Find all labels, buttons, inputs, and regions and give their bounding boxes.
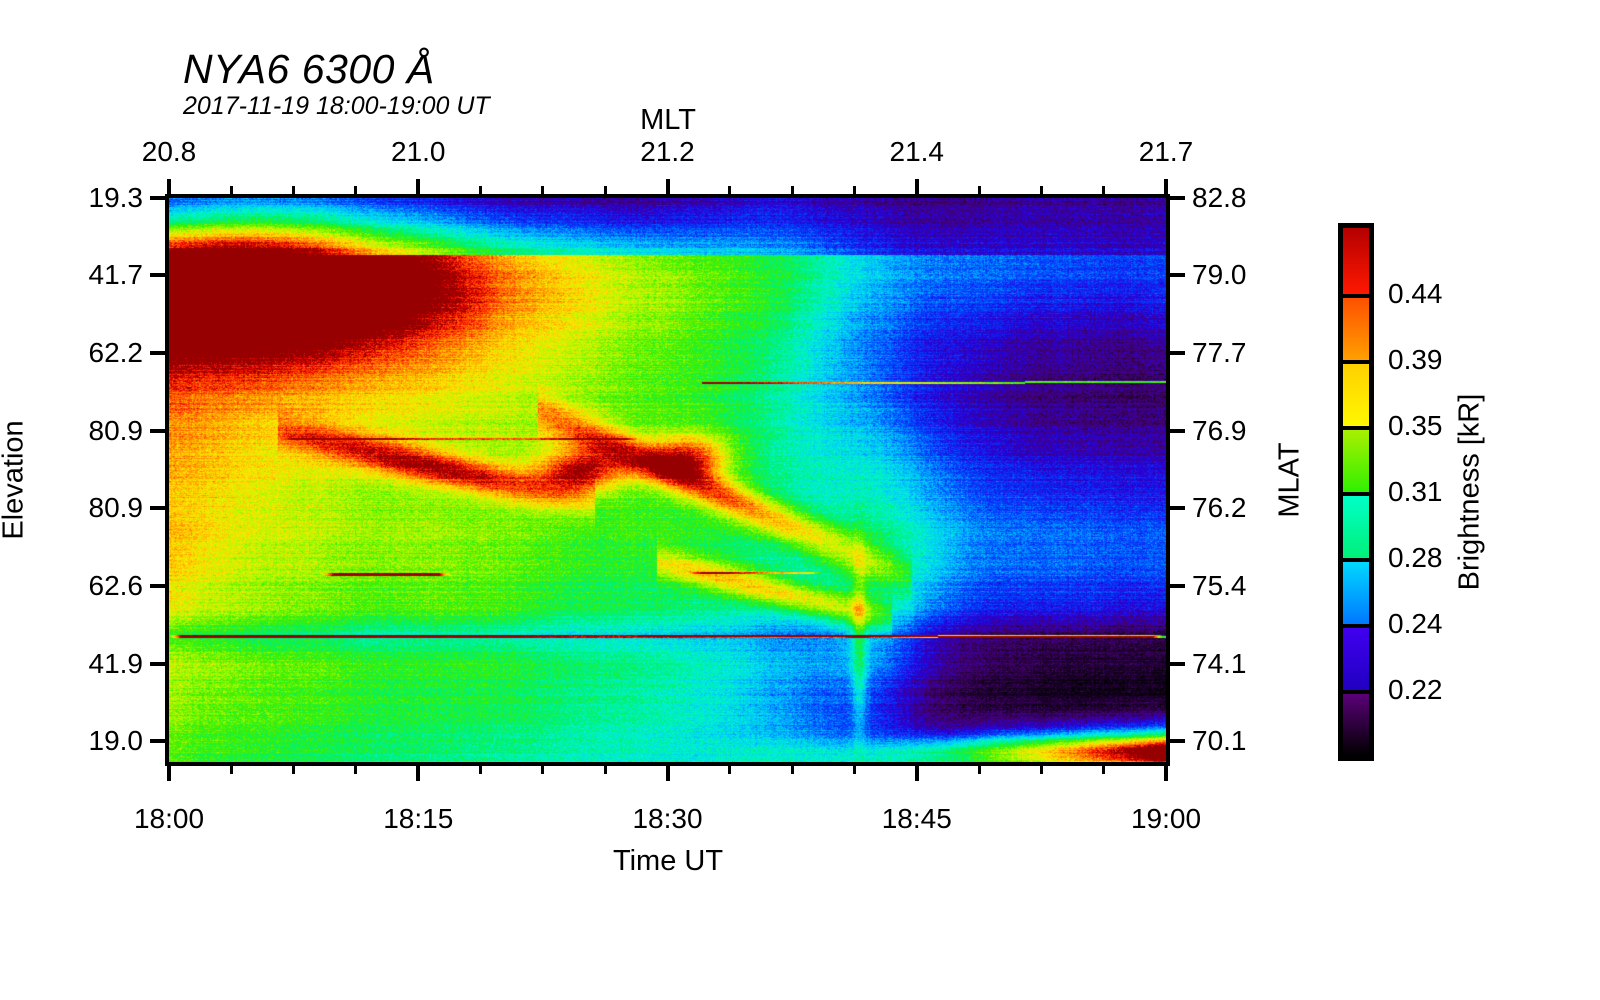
bottom-tick-minor <box>728 765 731 774</box>
top-tick-minor <box>791 186 794 195</box>
top-tick-minor <box>354 186 357 195</box>
top-tick-minor <box>978 186 981 195</box>
bottom-axis-title: Time UT <box>613 845 723 878</box>
top-tick-4 <box>1164 179 1168 195</box>
top-tick-label-4: 21.7 <box>1139 136 1194 168</box>
right-tick-7 <box>1169 739 1185 743</box>
top-tick-3 <box>915 179 919 195</box>
right-tick-label-4: 76.2 <box>1192 492 1247 524</box>
top-tick-minor <box>728 186 731 195</box>
colorbar-title: Brightness [kR] <box>1454 394 1487 591</box>
top-tick-2 <box>666 179 670 195</box>
right-tick-label-2: 77.7 <box>1192 337 1247 369</box>
top-tick-0 <box>167 179 171 195</box>
top-tick-minor <box>853 186 856 195</box>
bottom-tick-minor <box>978 765 981 774</box>
left-tick-label-0: 19.3 <box>0 182 143 214</box>
top-tick-minor <box>230 186 233 195</box>
colorbar-tick-label-6: 0.22 <box>1388 674 1443 706</box>
left-tick-1 <box>150 273 166 277</box>
colorbar-band-3 <box>1343 426 1369 492</box>
left-tick-label-2: 62.2 <box>0 337 143 369</box>
right-tick-label-0: 82.8 <box>1192 182 1247 214</box>
bottom-tick-1 <box>416 765 420 781</box>
colorbar-band-7 <box>1343 690 1369 756</box>
top-tick-minor <box>479 186 482 195</box>
top-tick-label-3: 21.4 <box>890 136 945 168</box>
right-tick-0 <box>1169 196 1185 200</box>
right-tick-label-5: 75.4 <box>1192 570 1247 602</box>
right-tick-6 <box>1169 662 1185 666</box>
colorbar-band-5 <box>1343 558 1369 624</box>
colorbar-tick-label-1: 0.39 <box>1388 344 1443 376</box>
bottom-tick-minor <box>354 765 357 774</box>
colorbar-band-2 <box>1343 360 1369 426</box>
left-tick-6 <box>150 662 166 666</box>
bottom-tick-label-4: 19:00 <box>1131 803 1201 835</box>
right-tick-5 <box>1169 584 1185 588</box>
bottom-tick-label-2: 18:30 <box>632 803 702 835</box>
keogram-heatmap <box>169 198 1166 762</box>
top-tick-label-2: 21.2 <box>640 136 695 168</box>
right-tick-1 <box>1169 273 1185 277</box>
right-axis-title: MLAT <box>1274 442 1307 517</box>
bottom-tick-label-0: 18:00 <box>134 803 204 835</box>
left-tick-label-1: 41.7 <box>0 259 143 291</box>
left-tick-4 <box>150 506 166 510</box>
top-tick-minor <box>1040 186 1043 195</box>
colorbar-tick-label-3: 0.31 <box>1388 476 1443 508</box>
page-subtitle: 2017-11-19 18:00-19:00 UT <box>183 92 490 121</box>
left-tick-label-4: 80.9 <box>0 492 143 524</box>
bottom-tick-minor <box>541 765 544 774</box>
bottom-tick-minor <box>604 765 607 774</box>
right-tick-4 <box>1169 506 1185 510</box>
bottom-tick-2 <box>666 765 670 781</box>
bottom-tick-4 <box>1164 765 1168 781</box>
right-tick-label-7: 70.1 <box>1192 725 1247 757</box>
bottom-tick-minor <box>853 765 856 774</box>
colorbar-tick-label-2: 0.35 <box>1388 410 1443 442</box>
top-tick-label-1: 21.0 <box>391 136 446 168</box>
bottom-tick-minor <box>230 765 233 774</box>
colorbar <box>1338 223 1374 761</box>
top-tick-minor <box>604 186 607 195</box>
top-tick-label-0: 20.8 <box>142 136 197 168</box>
left-tick-label-5: 62.6 <box>0 570 143 602</box>
left-tick-3 <box>150 429 166 433</box>
top-tick-1 <box>416 179 420 195</box>
left-tick-label-3: 80.9 <box>0 415 143 447</box>
colorbar-tick-label-4: 0.28 <box>1388 542 1443 574</box>
top-tick-minor <box>292 186 295 195</box>
bottom-tick-label-3: 18:45 <box>882 803 952 835</box>
left-tick-label-7: 19.0 <box>0 725 143 757</box>
right-tick-label-1: 79.0 <box>1192 259 1247 291</box>
right-tick-3 <box>1169 429 1185 433</box>
left-tick-0 <box>150 196 166 200</box>
bottom-tick-minor <box>1040 765 1043 774</box>
colorbar-band-6 <box>1343 624 1369 690</box>
colorbar-band-1 <box>1343 294 1369 360</box>
right-tick-2 <box>1169 351 1185 355</box>
colorbar-tick-label-5: 0.24 <box>1388 608 1443 640</box>
top-tick-minor <box>541 186 544 195</box>
left-tick-7 <box>150 739 166 743</box>
keogram-figure: NYA6 6300 Å 2017-11-19 18:00-19:00 UT ML… <box>0 0 1600 1000</box>
bottom-tick-label-1: 18:15 <box>383 803 453 835</box>
right-tick-label-6: 74.1 <box>1192 648 1247 680</box>
bottom-tick-minor <box>1102 765 1105 774</box>
top-tick-minor <box>1102 186 1105 195</box>
colorbar-tick-label-0: 0.44 <box>1388 278 1443 310</box>
colorbar-band-0 <box>1343 228 1369 294</box>
plot-area <box>165 194 1170 766</box>
bottom-tick-3 <box>915 765 919 781</box>
top-axis-title: MLT <box>640 104 696 137</box>
bottom-tick-minor <box>292 765 295 774</box>
left-tick-5 <box>150 584 166 588</box>
bottom-tick-minor <box>479 765 482 774</box>
page-title: NYA6 6300 Å <box>183 46 435 93</box>
left-tick-label-6: 41.9 <box>0 648 143 680</box>
bottom-tick-0 <box>167 765 171 781</box>
left-tick-2 <box>150 351 166 355</box>
bottom-tick-minor <box>791 765 794 774</box>
colorbar-band-4 <box>1343 492 1369 558</box>
right-tick-label-3: 76.9 <box>1192 415 1247 447</box>
